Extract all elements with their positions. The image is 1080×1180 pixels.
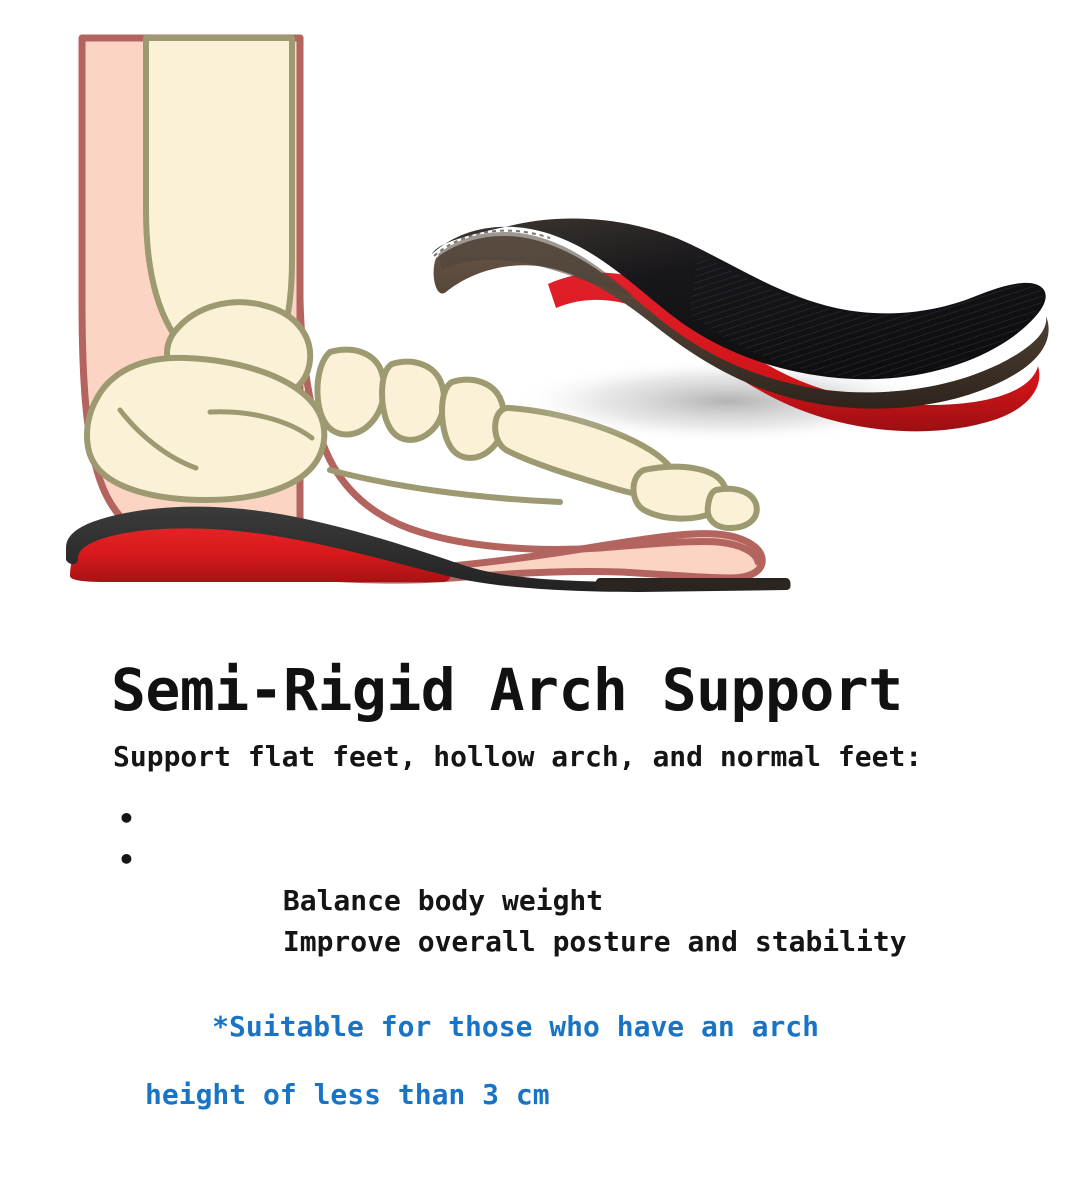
bullet-icon: • <box>118 839 128 880</box>
list-item-label: Improve overall posture and stability <box>283 925 907 958</box>
page-title: Semi-Rigid Arch Support <box>111 661 903 719</box>
list-item: • Balance body weight <box>113 798 907 839</box>
insole-forefoot-extension <box>596 578 791 590</box>
suitability-note-line-1: *Suitable for those who have an arch <box>212 1010 819 1043</box>
artwork-area <box>0 0 1080 640</box>
list-item: • Improve overall posture and stability <box>113 839 907 880</box>
list-item-label: Balance body weight <box>283 884 603 917</box>
distal-phalanx-bone <box>708 489 757 528</box>
suitability-note-line-2: height of less than 3 cm <box>111 1078 819 1112</box>
benefits-list: • Balance body weight • Improve overall … <box>113 798 907 880</box>
bullet-icon: • <box>118 798 128 839</box>
insole-3d-product-photo <box>398 196 1058 486</box>
suitability-note: *Suitable for those who have an arch hei… <box>111 976 819 1180</box>
navicular-bone <box>317 350 384 435</box>
product-feature-card: Semi-Rigid Arch Support Support flat fee… <box>0 0 1080 1080</box>
subtitle: Support flat feet, hollow arch, and norm… <box>113 743 922 771</box>
copy-area: Semi-Rigid Arch Support Support flat fee… <box>0 648 1080 1080</box>
